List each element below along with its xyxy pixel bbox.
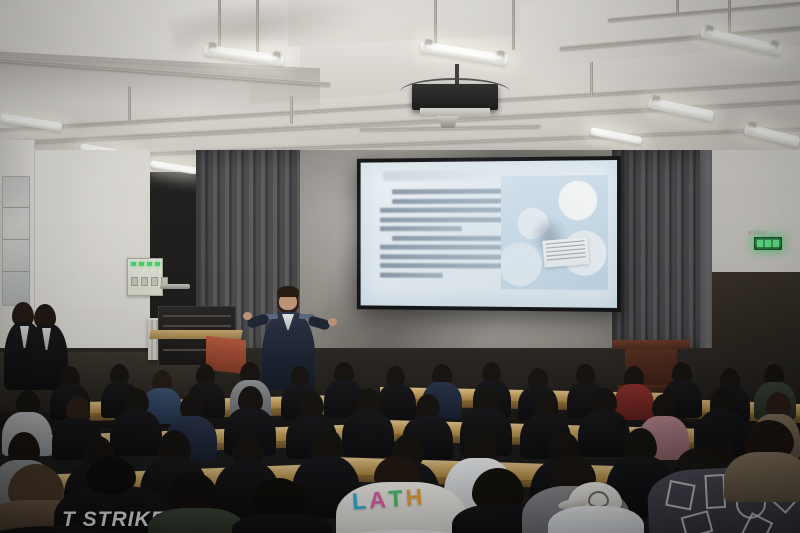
emergency-exit-sign [754, 237, 782, 250]
wall-control-panel[interactable] [127, 258, 163, 296]
ceiling [0, 0, 800, 172]
lectern-top [612, 340, 690, 349]
projector-mount [455, 64, 459, 86]
lamp-suspension-rod [290, 96, 293, 124]
lamp-suspension-rod [728, 0, 731, 36]
panel-indicator-lights [131, 262, 160, 266]
slide-header [383, 170, 499, 181]
projection-screen[interactable] [357, 156, 621, 312]
projector-base [420, 108, 490, 117]
left-window [2, 176, 30, 306]
slide-note-card [542, 237, 589, 267]
slide-balloon-photo [501, 175, 608, 290]
lamp-suspension-rod [590, 62, 593, 96]
lamp-suspension-rod [128, 86, 131, 122]
lamp-suspension-rod [512, 0, 515, 50]
ceiling-mounted-projector[interactable] [412, 84, 498, 110]
colorful-letter-jacket: L A T H [351, 486, 423, 514]
exit-sign-label: 安全出口 [748, 230, 765, 236]
lecture-hall-photo: 安全出口 [0, 0, 800, 533]
seated-students: T STRIKE L A T H [0, 360, 800, 533]
lamp-suspension-rod [676, 0, 679, 14]
slide-text-block [380, 189, 512, 283]
projected-slide [361, 160, 617, 308]
panel-lever[interactable] [160, 284, 190, 289]
